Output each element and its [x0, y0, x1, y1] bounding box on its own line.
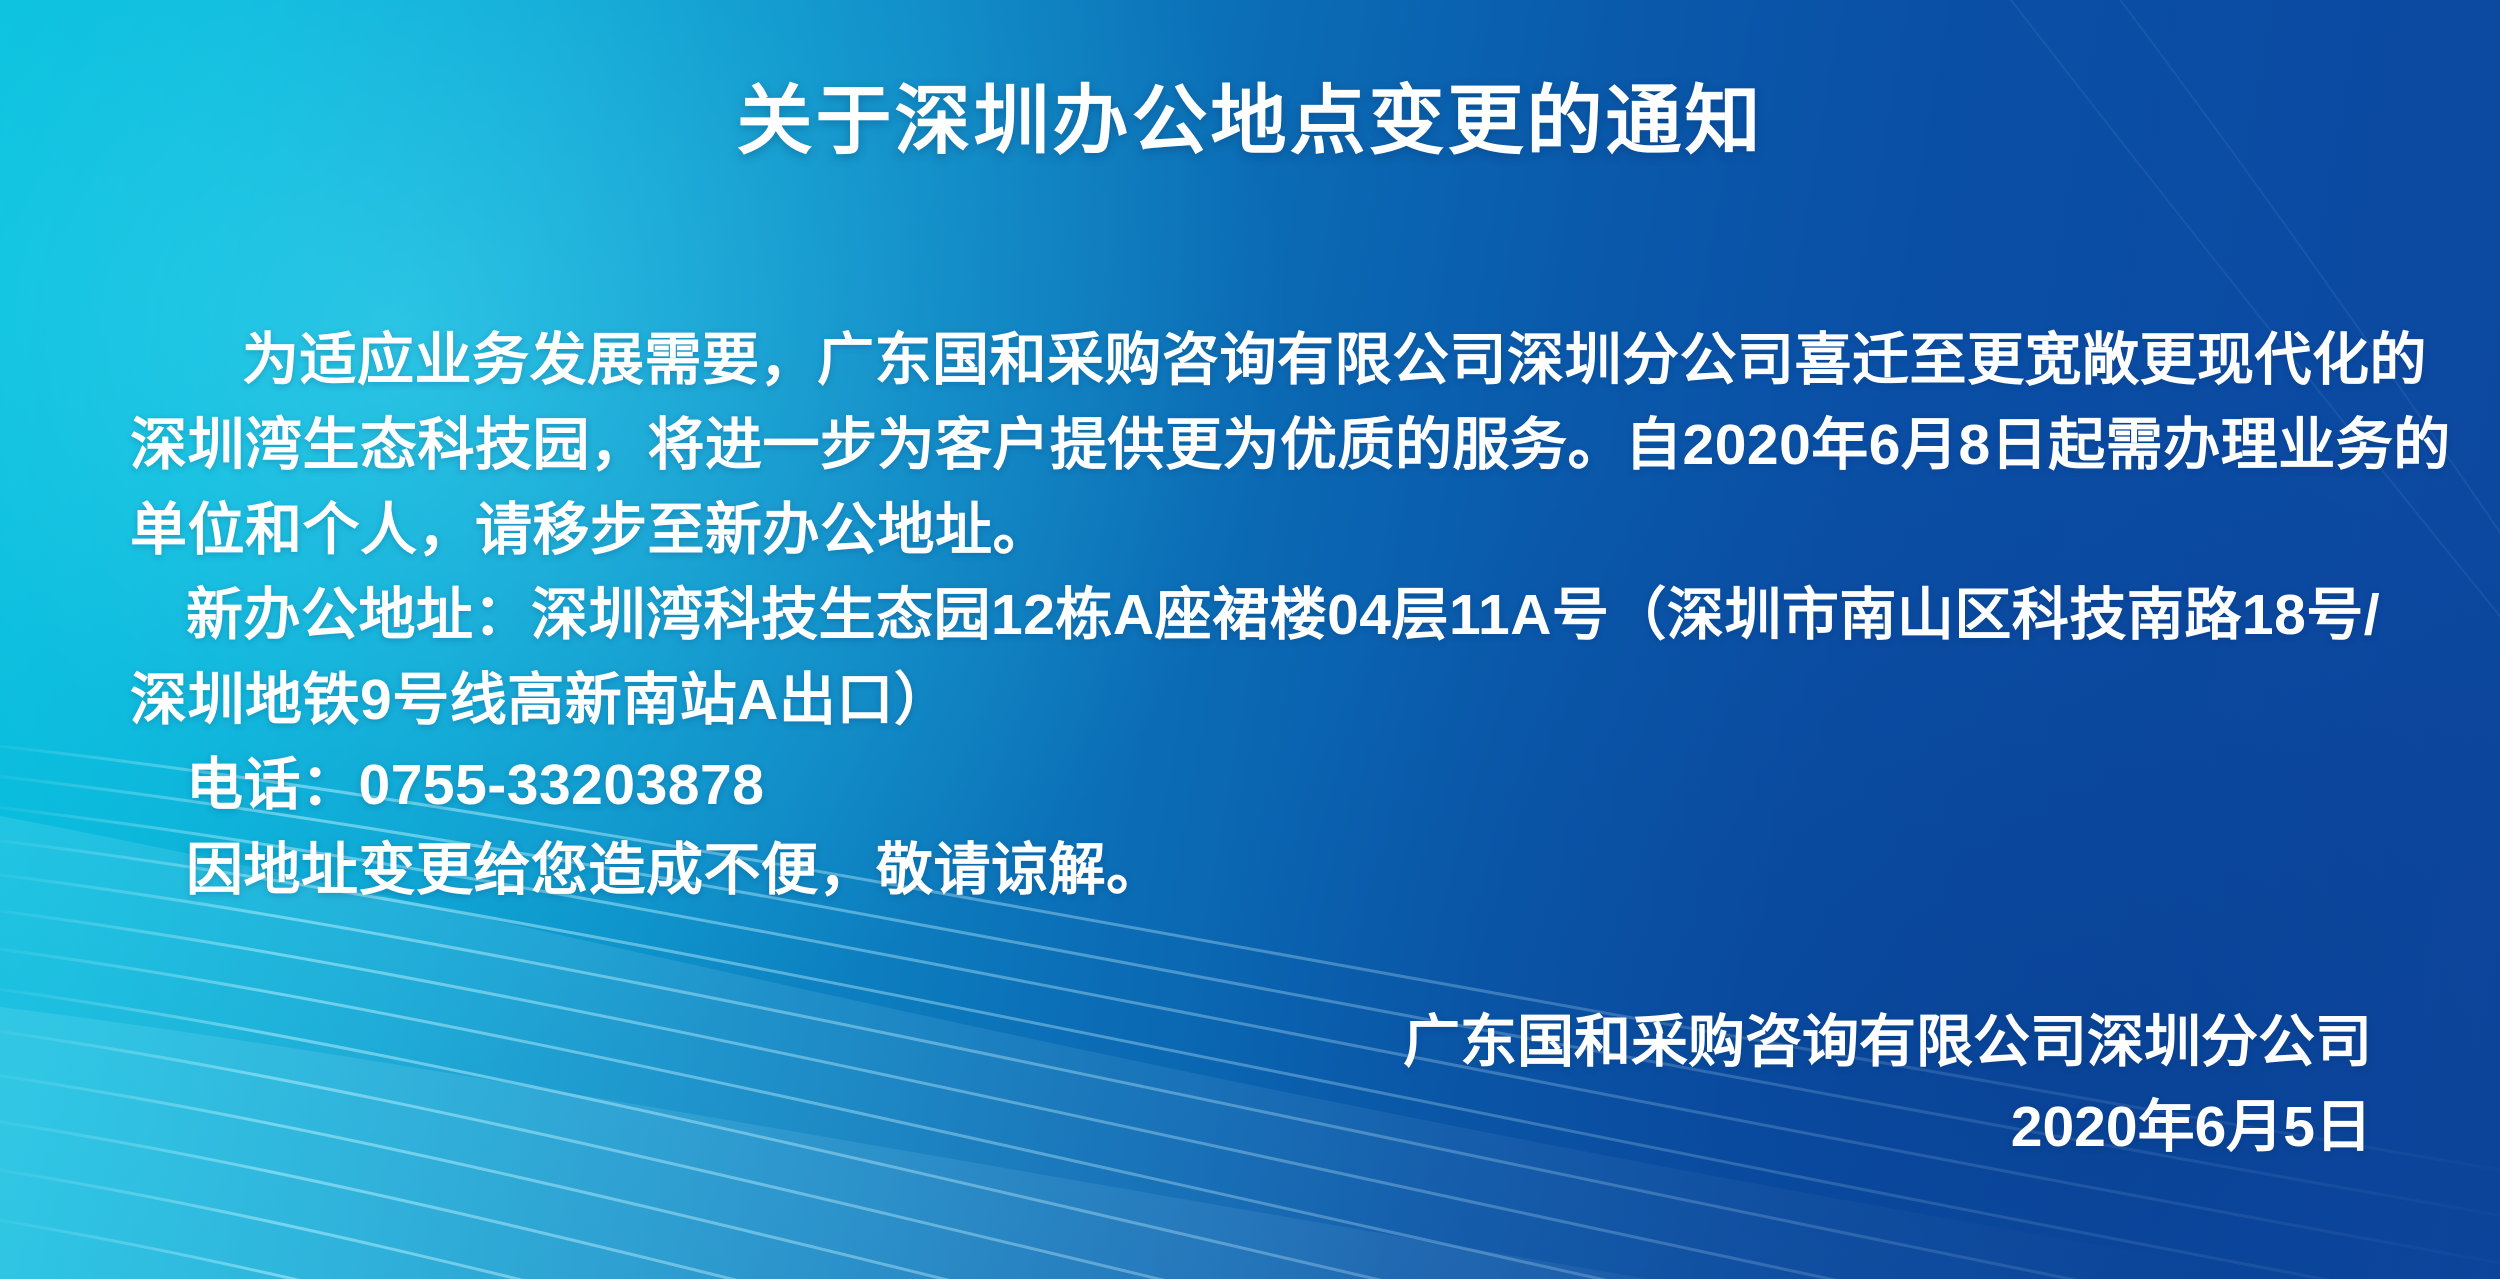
signature-organization: 广东国和采购咨询有限公司深圳分公司 — [1403, 1000, 2372, 1085]
notice-content: 关于深圳办公地点变更的通知 为适应业务发展需要，广东国和采购咨询有限公司深圳分公… — [0, 0, 2500, 1279]
notice-body: 为适应业务发展需要，广东国和采购咨询有限公司深圳分公司喜迁至更宽敞更现代化的 深… — [130, 318, 2380, 913]
notice-poster: 关于深圳办公地点变更的通知 为适应业务发展需要，广东国和采购咨询有限公司深圳分公… — [0, 0, 2500, 1279]
body-line-5-metro: 深圳地铁9号线高新南站A出口） — [130, 658, 2380, 743]
body-line-3: 单位和个人，请移步至新办公地址。 — [130, 488, 2380, 573]
body-line-7-apology: 因地址变更给您造成不便，敬请谅解。 — [130, 828, 2380, 913]
body-line-1: 为适应业务发展需要，广东国和采购咨询有限公司深圳分公司喜迁至更宽敞更现代化的 — [130, 318, 2380, 403]
body-line-6-phone: 电话：0755-33203878 — [130, 743, 2380, 828]
body-line-4-new-address: 新办公地址：深圳湾科技生态园12栋A座裙楼04层11A号（深圳市南山区科技南路1… — [130, 573, 2380, 658]
page-title: 关于深圳办公地点变更的通知 — [0, 78, 2500, 165]
signature-date: 2020年6月5日 — [1403, 1085, 2372, 1170]
body-line-2: 深圳湾生态科技园，将进一步为客户提供更为优质的服务。自2020年6月8日起需办理… — [130, 403, 2380, 488]
signature-block: 广东国和采购咨询有限公司深圳分公司 2020年6月5日 — [1403, 1000, 2372, 1170]
